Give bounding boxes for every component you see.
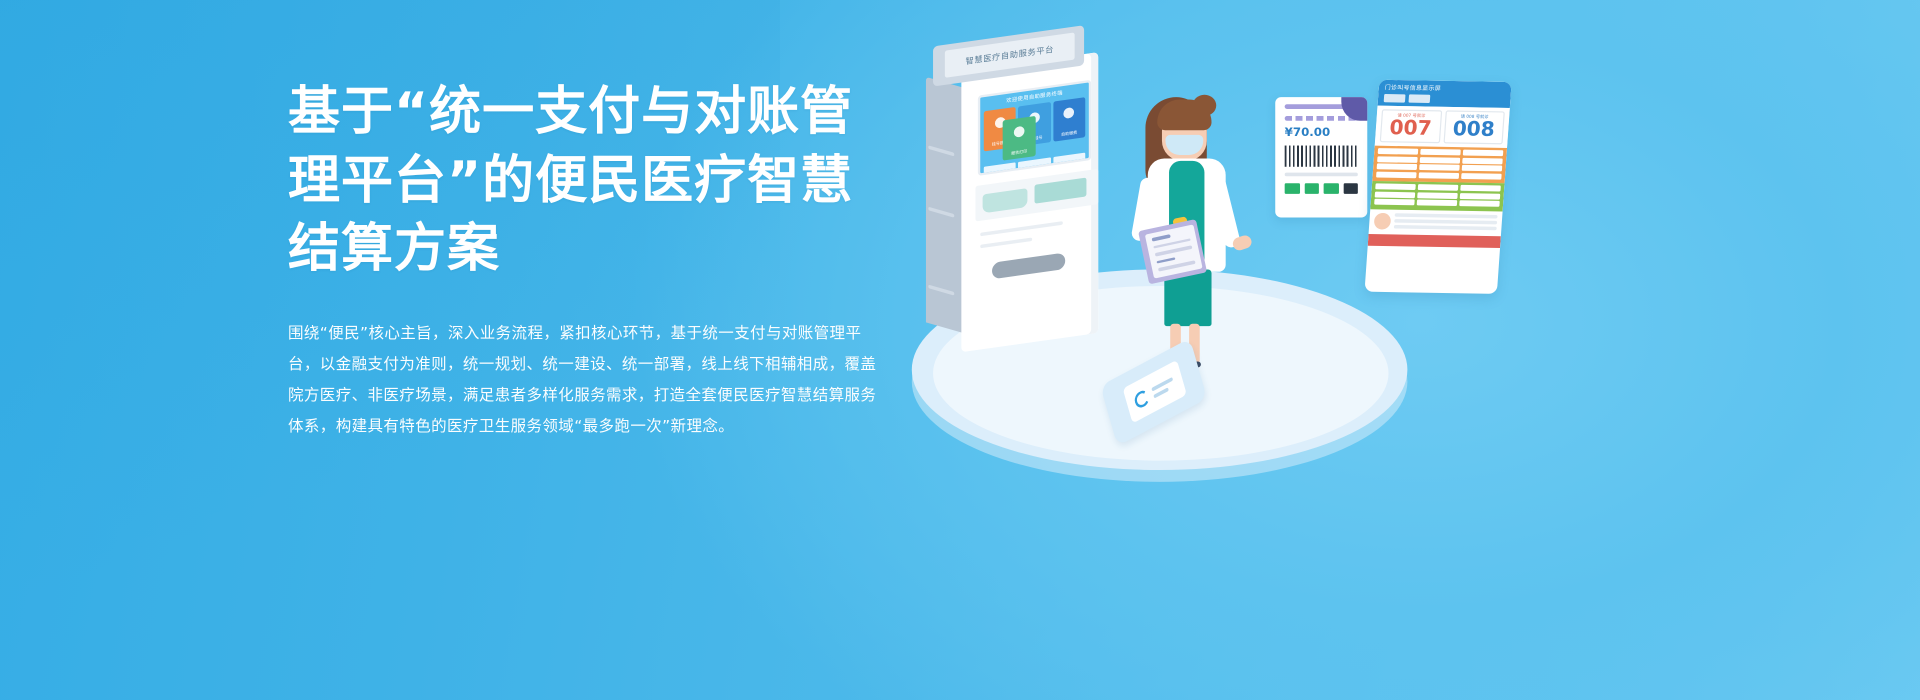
description-line-2: 台，以金融支付为准则，统一规划、统一建设、统一部署，线上线下相辅相成，覆盖 bbox=[288, 349, 908, 380]
kiosk-touchscreen: 欢迎使用自助服务终端 挂号建卡 预约挂号 自助缴费 bbox=[978, 80, 1091, 176]
board-column bbox=[1459, 185, 1501, 209]
board-footer-line bbox=[1394, 224, 1497, 229]
board-header-pills bbox=[1384, 94, 1505, 104]
receipt-chip bbox=[1304, 183, 1319, 194]
board-column bbox=[1461, 150, 1503, 181]
board-section-orange bbox=[1372, 146, 1507, 184]
board-cell bbox=[1418, 184, 1459, 191]
board-header: 门诊叫号信息显示屏 bbox=[1378, 80, 1512, 108]
board-cell bbox=[1460, 193, 1501, 200]
electronic-health-card bbox=[1123, 360, 1187, 424]
board-cell bbox=[1420, 149, 1461, 156]
kiosk-tile-payment: 自助缴费 bbox=[1053, 97, 1085, 142]
board-current-numbers: 请 007 号就诊 007 请 008 号就诊 008 bbox=[1375, 106, 1510, 148]
queue-number-card-2: 请 008 号就诊 008 bbox=[1443, 110, 1505, 144]
headline-line-2: 理平台”的便民医疗智慧 bbox=[288, 147, 908, 216]
board-cell bbox=[1377, 156, 1418, 163]
board-pill bbox=[1408, 94, 1430, 103]
hero-banner: 基于“统一支付与对账管 理平台”的便民医疗智慧 结算方案 围绕“便民”核心主旨，… bbox=[0, 0, 1920, 700]
board-cell bbox=[1419, 172, 1460, 179]
kiosk-tile-report: 报告打印 bbox=[1003, 116, 1036, 161]
doctor-hair-bun bbox=[1193, 95, 1217, 116]
board-footer bbox=[1369, 209, 1503, 236]
barcode-icon bbox=[1285, 146, 1358, 167]
queue-value: 008 bbox=[1447, 120, 1501, 141]
board-column bbox=[1417, 184, 1459, 208]
board-row-grid bbox=[1376, 148, 1503, 181]
clipboard-text-line bbox=[1152, 234, 1171, 241]
board-column bbox=[1418, 149, 1460, 180]
hero-copy: 基于“统一支付与对账管 理平台”的便民医疗智慧 结算方案 围绕“便民”核心主旨，… bbox=[288, 78, 908, 442]
clipboard-paper bbox=[1145, 224, 1203, 278]
headline-line-1: 基于“统一支付与对账管 bbox=[288, 78, 908, 147]
board-column bbox=[1374, 183, 1416, 207]
board-cell bbox=[1462, 165, 1503, 172]
tray-slot-right bbox=[1035, 178, 1087, 204]
description-line-1: 围绕“便民”核心主旨，深入业务流程，紧扣核心环节，基于统一支付与对账管理平 bbox=[288, 318, 908, 349]
board-cell bbox=[1462, 157, 1503, 164]
board-cell bbox=[1459, 200, 1500, 207]
payment-receipt-card: ¥70.00 bbox=[1275, 97, 1367, 217]
tray-slot-left bbox=[983, 188, 1028, 213]
receipt-chip bbox=[1285, 183, 1300, 194]
board-cell bbox=[1374, 199, 1415, 206]
board-cell bbox=[1375, 183, 1416, 190]
board-bottom-bar bbox=[1368, 233, 1501, 247]
board-cell bbox=[1378, 148, 1419, 155]
board-cell bbox=[1375, 191, 1416, 198]
board-cell bbox=[1417, 199, 1458, 206]
receipt-amount: ¥70.00 bbox=[1285, 127, 1358, 140]
face-mask-icon bbox=[1166, 135, 1204, 155]
board-cell bbox=[1419, 164, 1460, 171]
board-cell bbox=[1376, 171, 1417, 178]
hero-description: 围绕“便民”核心主旨，深入业务流程，紧扣核心环节，基于统一支付与对账管理平 台，… bbox=[288, 318, 908, 442]
board-title: 门诊叫号信息显示屏 bbox=[1384, 83, 1505, 93]
board-column bbox=[1376, 148, 1418, 179]
board-footer-line bbox=[1395, 213, 1498, 218]
board-pill bbox=[1384, 94, 1406, 103]
description-line-4: 体系，构建具有特色的医疗卫生服务领域“最多跑一次”新理念。 bbox=[288, 411, 908, 442]
queue-display-board: 门诊叫号信息显示屏 请 007 号就诊 007 请 008 号就诊 008 bbox=[1365, 80, 1512, 294]
page-title: 基于“统一支付与对账管 理平台”的便民医疗智慧 结算方案 bbox=[288, 78, 908, 284]
queue-number-card-1: 请 007 号就诊 007 bbox=[1380, 109, 1442, 143]
clipboard-text-line bbox=[1156, 257, 1175, 264]
avatar bbox=[1374, 213, 1392, 230]
board-cell bbox=[1463, 150, 1504, 157]
health-card-logo-icon bbox=[1133, 388, 1151, 410]
receipt-chip-row bbox=[1285, 183, 1358, 194]
board-section-green bbox=[1370, 181, 1504, 211]
receipt-chip bbox=[1324, 183, 1339, 194]
queue-value: 007 bbox=[1383, 119, 1437, 140]
description-line-3: 院方医疗、非医疗场景，满足患者多样化服务需求，打造全套便民医疗智慧结算服务 bbox=[288, 380, 908, 411]
board-cell bbox=[1460, 185, 1501, 192]
doctor-character bbox=[1131, 92, 1261, 352]
board-footer-line bbox=[1394, 218, 1497, 223]
board-cell bbox=[1417, 192, 1458, 199]
kiosk-tile-label: 报告打印 bbox=[1003, 147, 1036, 158]
receipt-qr-chip bbox=[1343, 183, 1358, 194]
board-cell bbox=[1461, 173, 1502, 180]
board-row-grid bbox=[1374, 183, 1501, 208]
board-cell bbox=[1420, 156, 1461, 163]
self-service-kiosk: 智慧医疗自助服务平台 欢迎使用自助服务终端 挂号建卡 预约挂号 自助缴费 bbox=[926, 36, 1127, 343]
illustration-scene: 智慧医疗自助服务平台 欢迎使用自助服务终端 挂号建卡 预约挂号 自助缴费 bbox=[900, 24, 1561, 520]
receipt-text-line bbox=[1285, 173, 1358, 177]
report-icon bbox=[1014, 126, 1025, 138]
board-cell bbox=[1377, 163, 1418, 170]
kiosk-tile-label: 自助缴费 bbox=[1053, 128, 1085, 138]
board-footer-lines bbox=[1394, 213, 1498, 232]
payment-icon bbox=[1064, 107, 1075, 119]
receipt-dashed-bar bbox=[1285, 116, 1358, 121]
headline-line-3: 结算方案 bbox=[288, 215, 908, 284]
